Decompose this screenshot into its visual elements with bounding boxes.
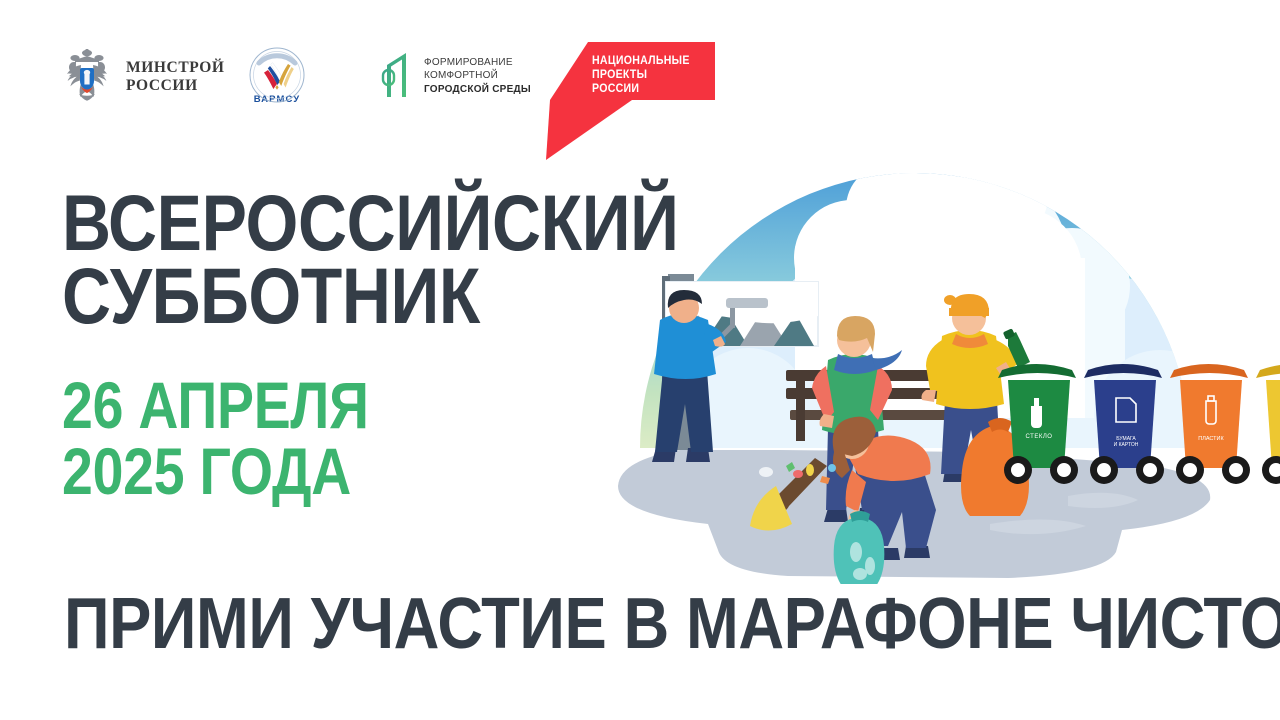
call-to-action: ПРИМИ УЧАСТИЕ В МАРАФОНЕ ЧИСТОТЫ! xyxy=(64,588,1111,660)
logo-fkgs-line1: ФОРМИРОВАНИЕ xyxy=(424,56,531,70)
logo-minstroy-text: МИНСТРОЙ РОССИИ xyxy=(126,59,225,96)
illustration-cleanup-scene: СТЕКЛО БУМАГА И КАРТОН xyxy=(560,18,1280,584)
illustration-svg: СТЕКЛО БУМАГА И КАРТОН xyxy=(560,18,1280,584)
logo-fkgs-line2: КОМФОРТНОЙ xyxy=(424,69,531,83)
logo-fkgs-text: ФОРМИРОВАНИЕ КОМФОРТНОЙ ГОРОДСКОЙ СРЕДЫ xyxy=(424,56,531,97)
page-title: ВСЕРОССИЙСКИЙ СУББОТНИК xyxy=(62,186,544,333)
bin-plastic-label: ПЛАСТИК xyxy=(1198,436,1224,442)
logo-minstroy-line1: МИНСТРОЙ xyxy=(126,59,225,77)
date-line1: 26 АПРЕЛЯ xyxy=(62,372,532,438)
headline-line1: ВСЕРОССИЙСКИЙ xyxy=(62,186,544,259)
logo-minstroy-rossii: МИНСТРОЙ РОССИИ xyxy=(60,48,225,106)
event-date: 26 АПРЕЛЯ 2025 ГОДА xyxy=(62,372,532,504)
bin-metal: МЕТАЛЛ xyxy=(1256,364,1280,484)
logo-fkgs-line3: ГОРОДСКОЙ СРЕДЫ xyxy=(424,83,531,97)
date-line2: 2025 ГОДА xyxy=(62,438,532,504)
recycling-bins: СТЕКЛО БУМАГА И КАРТОН xyxy=(998,364,1280,484)
bin-paper-label2: И КАРТОН xyxy=(1114,442,1139,448)
bin-glass-label: СТЕКЛО xyxy=(1026,434,1053,440)
house-leaf-icon xyxy=(378,50,414,102)
varmsu-circular-emblem-icon xyxy=(244,44,310,110)
logo-varmsu: ВАРМСУ xyxy=(244,44,310,105)
logo-minstroy-line2: РОССИИ xyxy=(126,77,225,95)
headline-line2: СУББОТНИК xyxy=(62,259,544,332)
poster-root: МИНСТРОЙ РОССИИ xyxy=(0,0,1280,720)
logo-fkgs: ФОРМИРОВАНИЕ КОМФОРТНОЙ ГОРОДСКОЙ СРЕДЫ xyxy=(378,50,531,102)
russian-coat-of-arms-eagle-icon xyxy=(60,48,114,106)
